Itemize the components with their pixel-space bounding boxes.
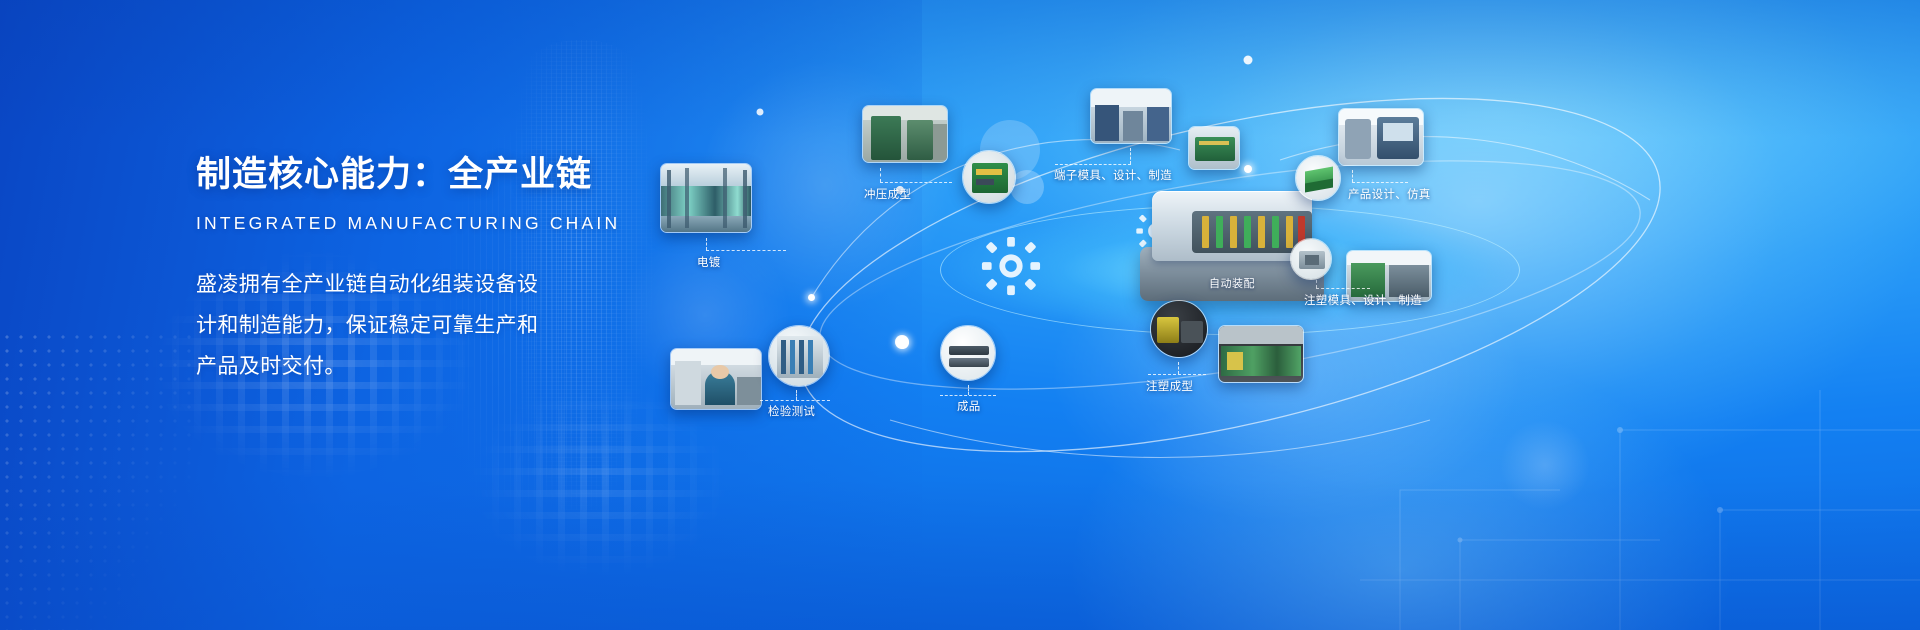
banner-subtitle: INTEGRATED MANUFACTURING CHAIN [196, 213, 616, 234]
node-injection-molding-leader-v [1178, 362, 1179, 374]
node-terminal-mold-leader-v [1130, 148, 1131, 164]
banner-body: 盛凌拥有全产业链自动化组装设备设计和制造能力，保证稳定可靠生产和产品及时交付。 [196, 264, 556, 387]
node-injection-molding-thumb[interactable] [1150, 300, 1208, 358]
node-electroplating-thumb[interactable] [660, 163, 752, 233]
node-electroplating-leader-h [706, 250, 786, 251]
production-line-thumb[interactable] [1218, 325, 1304, 383]
node-electroplating-label: 电镀 [697, 254, 721, 270]
node-stamping-leader-v [880, 168, 881, 182]
node-product-design-label: 产品设计、仿真 [1348, 186, 1431, 202]
node-inspection-testing-leader-v [796, 390, 797, 400]
gear-icon-large [980, 235, 1042, 297]
banner-title: 制造核心能力：全产业链 [196, 146, 616, 197]
node-stamping-label: 冲压成型 [864, 186, 911, 202]
node-terminal-mold-leader-h [1055, 164, 1131, 165]
inspection-testing-secondary-thumb[interactable] [768, 325, 830, 387]
text-block: 制造核心能力：全产业链 INTEGRATED MANUFACTURING CHA… [196, 146, 616, 387]
node-finished-product-leader-h [940, 395, 996, 396]
node-terminal-mold-label: 端子模具、设计、制造 [1054, 167, 1172, 183]
node-finished-product-label: 成品 [957, 398, 981, 414]
model-3d-thumb-icon[interactable] [1295, 155, 1341, 201]
node-product-design-thumb[interactable] [1338, 108, 1424, 166]
node-injection-molding-label: 注塑成型 [1146, 378, 1193, 394]
banner-stage: 制造核心能力：全产业链 INTEGRATED MANUFACTURING CHA… [0, 0, 1920, 630]
node-terminal-mold-thumb[interactable] [1090, 88, 1172, 144]
machine-top [1152, 191, 1312, 261]
orbit-point-a [896, 336, 909, 349]
node-finished-product-leader-v [968, 385, 969, 395]
node-finished-product-thumb[interactable] [940, 325, 996, 381]
orbit-point-c [808, 294, 815, 301]
node-electroplating-leader-v [706, 238, 707, 250]
node-product-design-leader-h [1352, 182, 1408, 183]
node-injection-molding-leader-h [1148, 374, 1206, 375]
manufacturing-chain-diagram: 自动装配 电镀 [640, 0, 1920, 630]
node-product-design-leader-v [1352, 170, 1353, 182]
node-inspection-testing-thumb[interactable] [670, 348, 762, 410]
terminal-mold-secondary-thumb[interactable] [1188, 126, 1240, 170]
node-inspection-testing-leader-h [760, 400, 830, 401]
orbit-point-b [1244, 165, 1252, 173]
node-stamping-thumb[interactable] [862, 105, 948, 163]
node-stamping-leader-h [880, 182, 952, 183]
node-inspection-testing-label: 检验测试 [768, 403, 815, 419]
pcb-thumb-icon[interactable] [962, 150, 1016, 204]
